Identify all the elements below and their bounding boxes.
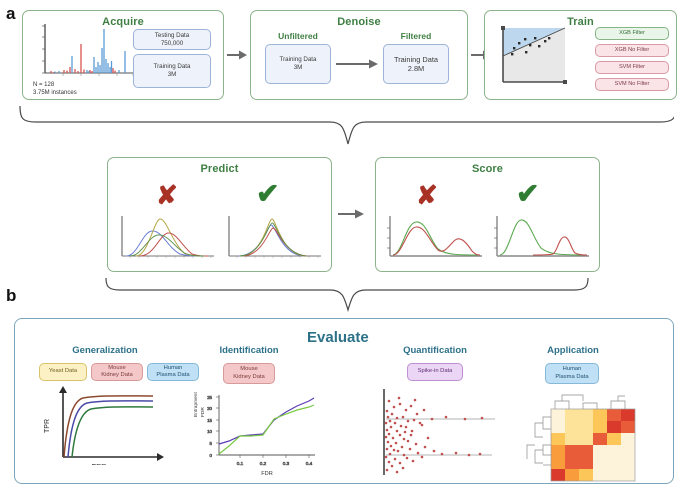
stage-score[interactable]: Score ✘ ✔: [375, 157, 600, 272]
stage-acquire[interactable]: Acquire: [22, 10, 224, 100]
stage-denoise[interactable]: Denoise Unfiltered Filtered Training Dat…: [250, 10, 468, 100]
chip-yeast-data[interactable]: Yeast Data: [39, 363, 87, 381]
panel-letter-a: a: [6, 4, 15, 24]
svg-text:0.1: 0.1: [237, 461, 244, 466]
chip-human-plasma-data-gen-line1: Human: [164, 365, 183, 372]
arrow-predict-to-score: [337, 207, 365, 221]
model-button-svm-no-filter[interactable]: SVM No Filter: [595, 78, 669, 91]
denoise-filtered-label: Filtered: [381, 31, 451, 41]
identification-ylabel-line2: FDR: [200, 407, 206, 417]
chip-training-data-line2: 3M: [168, 71, 177, 79]
chip-testing-data[interactable]: Testing Data 750,000: [133, 29, 211, 50]
stage-score-title: Score: [376, 163, 599, 175]
chip-denoise-unfiltered-line2: 3M: [294, 64, 303, 72]
predict-good-check-icon: ✔: [256, 177, 279, 210]
score-good-check-icon: ✔: [516, 177, 539, 210]
svg-text:10: 10: [207, 429, 212, 434]
stage-train[interactable]: Train XGB Filter XGB No Filter SVM Filte…: [484, 10, 677, 100]
section-title-generalization: Generalization: [35, 345, 175, 356]
predict-good-distributions-chart: [223, 214, 323, 262]
chip-mouse-kidney-data-gen-line2: Kidney Data: [101, 372, 133, 379]
section-title-application: Application: [503, 345, 643, 356]
arrow-acquire-to-denoise: [226, 48, 248, 62]
generalization-roc-chart: TPR FPR: [37, 385, 167, 465]
predict-bad-distributions-chart: [116, 214, 216, 262]
chip-yeast-data-label: Yeast Data: [49, 368, 77, 375]
model-button-svm-filter[interactable]: SVM Filter: [595, 61, 669, 74]
svg-text:0.3: 0.3: [283, 461, 290, 466]
acquire-caption-n: N = 128: [33, 81, 54, 89]
chip-testing-data-line2: 750,000: [161, 40, 183, 48]
score-bad-distributions-chart: [384, 214, 484, 262]
chip-spike-in-data-label: Spike-in Data: [418, 368, 453, 375]
chip-human-plasma-data-gen[interactable]: Human Plasma Data: [147, 363, 199, 381]
svg-text:25: 25: [207, 395, 212, 400]
chip-human-plasma-data-app-line2: Plasma Data: [555, 374, 588, 381]
model-button-xgb-filter-label: XGB Filter: [619, 30, 645, 37]
identification-xlabel: FDR: [261, 471, 273, 477]
chip-human-plasma-data-app-line1: Human: [563, 366, 582, 373]
application-heatmap-chart: [513, 387, 643, 483]
identification-entrapment-fdr-chart: 0 5 10 15 20 25 0.1 0.2 0.3 0.4 Entrapme…: [185, 391, 325, 479]
chip-training-data[interactable]: Training Data 3M: [133, 54, 211, 88]
chip-training-data-line1: Training Data: [154, 63, 191, 71]
chip-denoise-unfiltered-line1: Training Data: [280, 56, 317, 64]
denoise-unfiltered-label: Unfiltered: [263, 31, 333, 41]
svg-text:15: 15: [207, 418, 212, 423]
stage-predict-title: Predict: [108, 163, 331, 175]
svg-text:0: 0: [210, 453, 213, 458]
chip-denoise-filtered[interactable]: Training Data 2.8M: [383, 44, 449, 84]
svg-text:0.4: 0.4: [306, 461, 313, 466]
evaluate-title: Evaluate: [307, 329, 369, 346]
model-button-xgb-filter[interactable]: XGB Filter: [595, 27, 669, 40]
identification-ylabel-line1: Entrapment: [193, 392, 199, 417]
model-button-xgb-no-filter-label: XGB No Filter: [615, 47, 650, 54]
svg-text:5: 5: [210, 441, 213, 446]
chip-denoise-filtered-line2: 2.8M: [408, 64, 424, 73]
section-title-identification: Identification: [179, 345, 319, 356]
chip-mouse-kidney-data-ident-line1: Mouse: [240, 366, 257, 373]
quantification-spikein-scatter-chart: [370, 387, 520, 479]
chip-denoise-filtered-line1: Training Data: [394, 55, 438, 64]
train-svm-boundary-chart: [491, 25, 575, 91]
chip-testing-data-line1: Testing Data: [155, 32, 189, 40]
brace-middle-connector: [14, 276, 674, 320]
score-bad-cross-icon: ✘: [416, 180, 438, 211]
model-button-xgb-no-filter[interactable]: XGB No Filter: [595, 44, 669, 57]
chip-spike-in-data[interactable]: Spike-in Data: [407, 363, 463, 381]
chip-human-plasma-data-app[interactable]: Human Plasma Data: [545, 363, 599, 384]
stage-predict[interactable]: Predict ✘ ✔: [107, 157, 332, 272]
chip-mouse-kidney-data-gen[interactable]: Mouse Kidney Data: [91, 363, 143, 381]
generalization-ylabel: TPR: [44, 419, 51, 433]
chip-denoise-unfiltered[interactable]: Training Data 3M: [265, 44, 331, 84]
model-button-svm-filter-label: SVM Filter: [619, 64, 645, 71]
chip-mouse-kidney-data-ident-line2: Kidney Data: [233, 374, 265, 381]
section-title-quantification: Quantification: [365, 345, 505, 356]
generalization-xlabel: FPR: [92, 462, 108, 465]
acquire-caption-instances: 3.75M instances: [33, 89, 77, 97]
score-good-distributions-chart: [491, 214, 591, 262]
evaluate-panel[interactable]: Evaluate Generalization Yeast Data Mouse…: [14, 318, 674, 484]
brace-top-connector: [14, 104, 674, 150]
chip-mouse-kidney-data-ident[interactable]: Mouse Kidney Data: [223, 363, 275, 384]
svg-text:20: 20: [207, 406, 212, 411]
chip-mouse-kidney-data-gen-line1: Mouse: [108, 365, 125, 372]
stage-denoise-title: Denoise: [251, 16, 467, 28]
arrow-unfiltered-to-filtered: [335, 57, 379, 71]
chip-human-plasma-data-gen-line2: Plasma Data: [156, 372, 189, 379]
svg-text:0.2: 0.2: [260, 461, 267, 466]
model-button-svm-no-filter-label: SVM No Filter: [615, 81, 650, 88]
predict-bad-cross-icon: ✘: [156, 180, 178, 211]
acquire-mass-spectrum-chart: [29, 21, 139, 83]
